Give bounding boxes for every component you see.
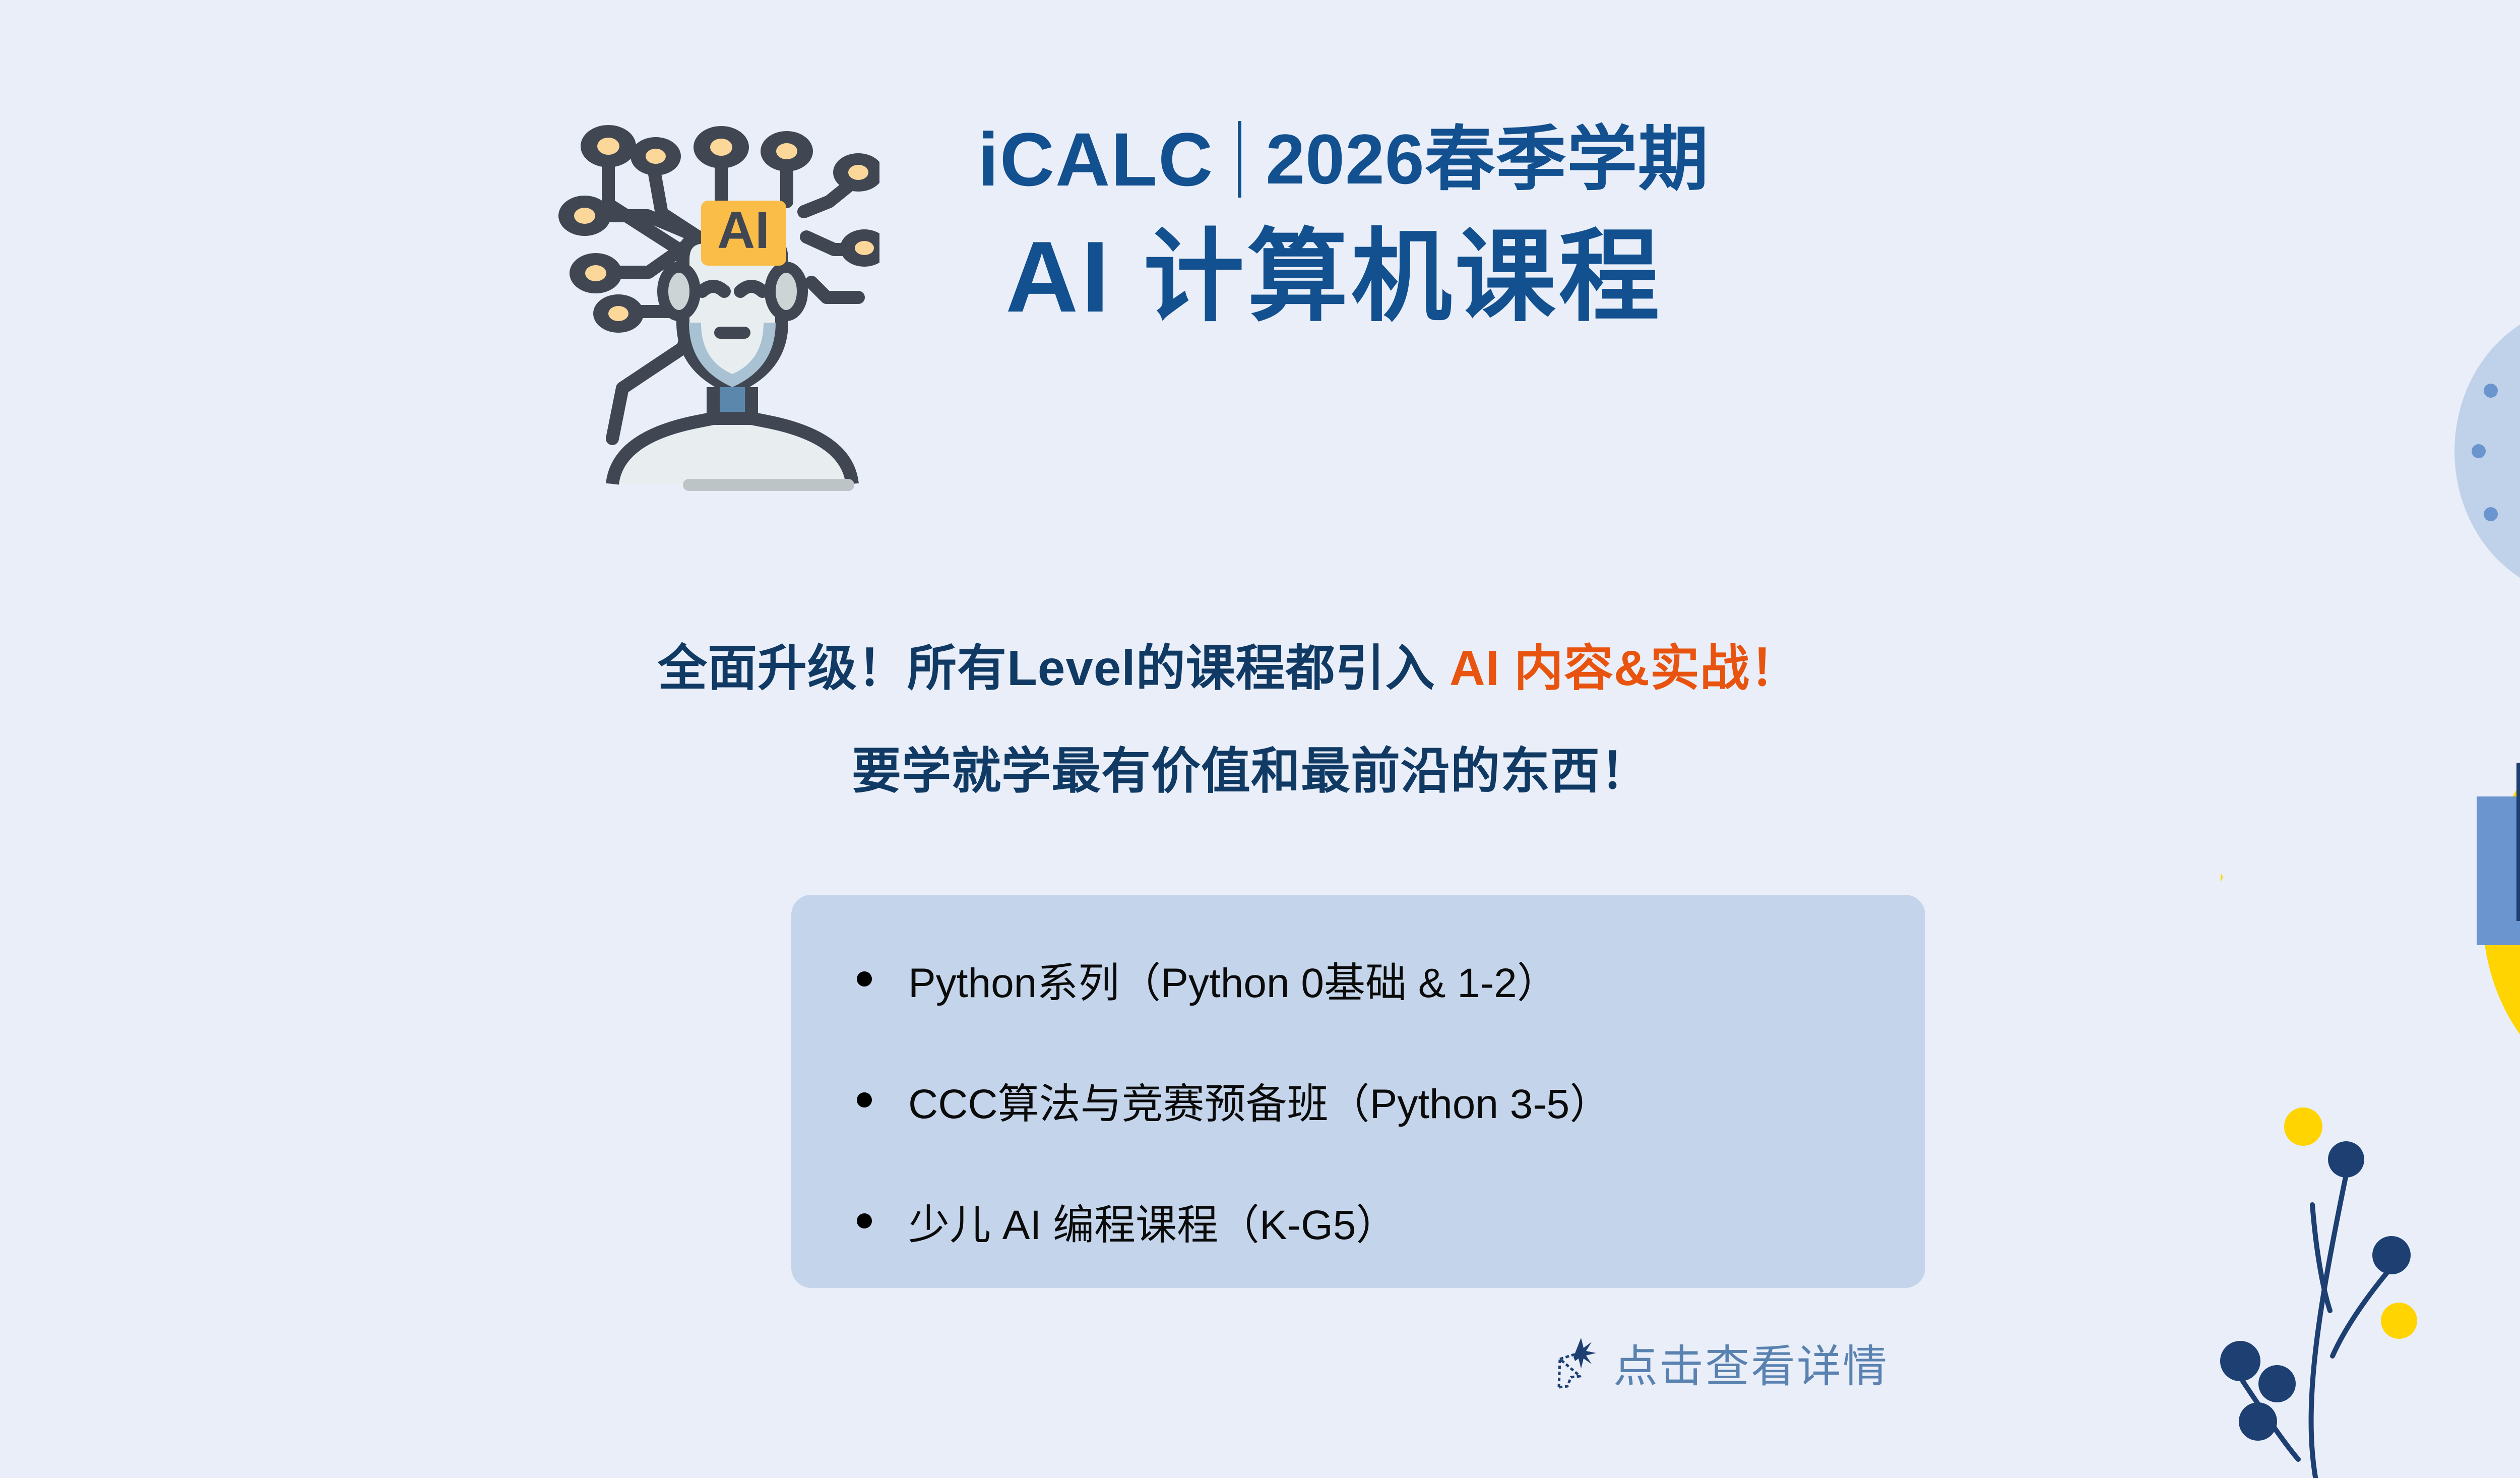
view-details-cta[interactable]: 点击查看详情 — [1550, 1331, 1888, 1395]
page-title: AI 计算机课程 — [1005, 222, 1663, 333]
list-item: CCC算法与竞赛预备班（Python 3-5） — [857, 1062, 1925, 1138]
subtitle-line-2: 要学就学最有价值和最前沿的东西！ — [852, 731, 1650, 803]
left-content-column: AI iCALC 2026春季学期 AI 计算机课程 全面升级！所有Level的… — [0, 0, 2167, 1478]
bullet-icon — [857, 971, 872, 987]
logo-chip-label: AI — [717, 201, 770, 260]
title-divider — [1238, 121, 1241, 198]
title-row: iCALC 2026春季学期 — [978, 121, 1709, 198]
bullet-icon — [857, 1092, 872, 1107]
subtitle-line-1: 全面升级！所有Level的课程都引入 AI 内容&实战！ — [658, 628, 1800, 700]
subtitle-line-1-prefix: 全面升级！所有Level的课程都引入 — [658, 640, 1450, 696]
term-label: 2026春季学期 — [1266, 124, 1709, 195]
list-item: 少儿 AI 编程课程（K-G5） — [857, 1183, 1925, 1259]
decorative-illustration — [2117, 0, 2520, 1478]
cursor-click-icon — [1550, 1333, 1600, 1393]
promo-banner: AI iCALC 2026春季学期 AI 计算机课程 全面升级！所有Level的… — [0, 0, 2520, 1478]
subtitle-line-1-highlight: AI 内容&实战！ — [1450, 640, 1800, 696]
brand-name: iCALC — [978, 121, 1214, 197]
view-details-label: 点击查看详情 — [1613, 1331, 1888, 1395]
list-item-label: CCC算法与竞赛预备班（Python 3-5） — [908, 1070, 1611, 1130]
list-item-label: Python系列（Python 0基础 & 1-2） — [908, 949, 1558, 1009]
bullet-icon — [857, 1213, 872, 1228]
list-item-label: 少儿 AI 编程课程（K-G5） — [908, 1191, 1397, 1251]
ai-brain-logo: AI — [532, 86, 879, 494]
course-list-card: Python系列（Python 0基础 & 1-2） CCC算法与竞赛预备班（P… — [791, 895, 1925, 1288]
list-item: Python系列（Python 0基础 & 1-2） — [857, 941, 1925, 1017]
